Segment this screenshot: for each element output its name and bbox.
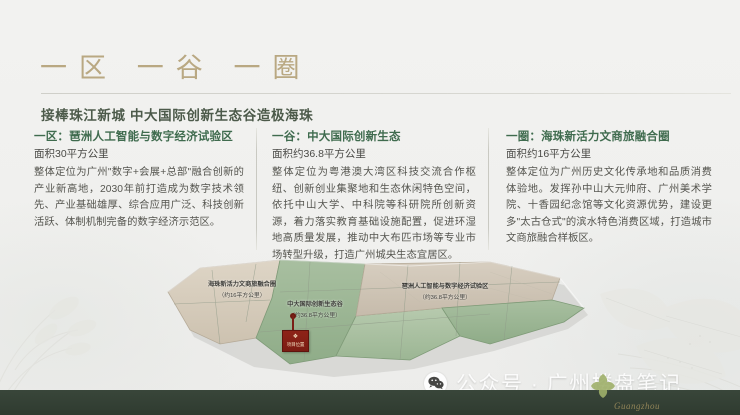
zone-column-district: 一区：琶洲人工智能与数字经济试验区 面积30平方公里 整体定位为广州"数字+会展… — [34, 130, 256, 255]
marker-emblem-icon: ❖ — [293, 334, 298, 341]
zone-body-district: 整体定位为广州"数字+会展+总部"融合创新的产业新高地，2030年前打造成为数字… — [34, 165, 244, 231]
zone-column-valley: 一谷：中大国际创新生态 面积约36.8平方公里 整体定位为粤港澳大湾区科技交流合… — [256, 130, 488, 255]
map-label-valley-zone: 中大国际创新生态谷 （约36.8平方公里） — [260, 300, 370, 321]
marker-label-text: 项目位置 — [287, 342, 305, 348]
leaf-logo-icon — [588, 371, 618, 401]
marker-pin-stem — [292, 315, 294, 331]
project-location-marker[interactable]: ❖ 项目位置 — [282, 315, 310, 355]
zone-title-district: 一区：琶洲人工智能与数字经济试验区 — [34, 130, 244, 145]
map-label-circle-zone: 海珠新活力文商旅融合圈 （约16平方公里） — [182, 280, 302, 301]
zone-area-circle: 面积约16平方公里 — [506, 147, 712, 162]
district-map: 海珠新活力文商旅融合圈 （约16平方公里） 中大国际创新生态谷 （约36.8平方… — [160, 252, 590, 382]
map-illustration — [160, 252, 590, 382]
zone-body-valley: 整体定位为粤港澳大湾区科技交流合作枢纽、创新创业集聚地和生态休闲特色空间，依托中… — [272, 165, 476, 265]
zone-body-circle: 整体定位为广州历史文化传承地和品质消费体验地。发挥孙中山大元帅府、广州美术学院、… — [506, 165, 712, 248]
zone-area-valley: 面积约36.8平方公里 — [272, 147, 476, 162]
marker-label-box: ❖ 项目位置 — [282, 330, 309, 352]
slide-canvas: 一区 一谷 一圈 接棒珠江新城 中大国际创新生态谷造极海珠 一区：琶洲人工智能与… — [0, 0, 740, 415]
zone-columns: 一区：琶洲人工智能与数字经济试验区 面积30平方公里 整体定位为广州"数字+会展… — [34, 130, 724, 255]
page-title: 一区 一谷 一圈 — [40, 46, 312, 85]
zone-column-circle: 一圈：海珠新活力文商旅融合圈 面积约16平方公里 整体定位为广州历史文化传承地和… — [488, 130, 724, 255]
map-label-district-zone: 琶洲人工智能与数字经济试验区 （约36.8平方公里） — [370, 282, 520, 303]
title-divider — [41, 93, 731, 94]
zone-area-district: 面积30平方公里 — [34, 147, 244, 162]
page-subtitle: 接棒珠江新城 中大国际创新生态谷造极海珠 — [41, 104, 313, 124]
zone-title-circle: 一圈：海珠新活力文商旅融合圈 — [506, 130, 712, 145]
footer-signature: Guangzhou — [614, 401, 660, 411]
zone-title-valley: 一谷：中大国际创新生态 — [272, 130, 476, 145]
